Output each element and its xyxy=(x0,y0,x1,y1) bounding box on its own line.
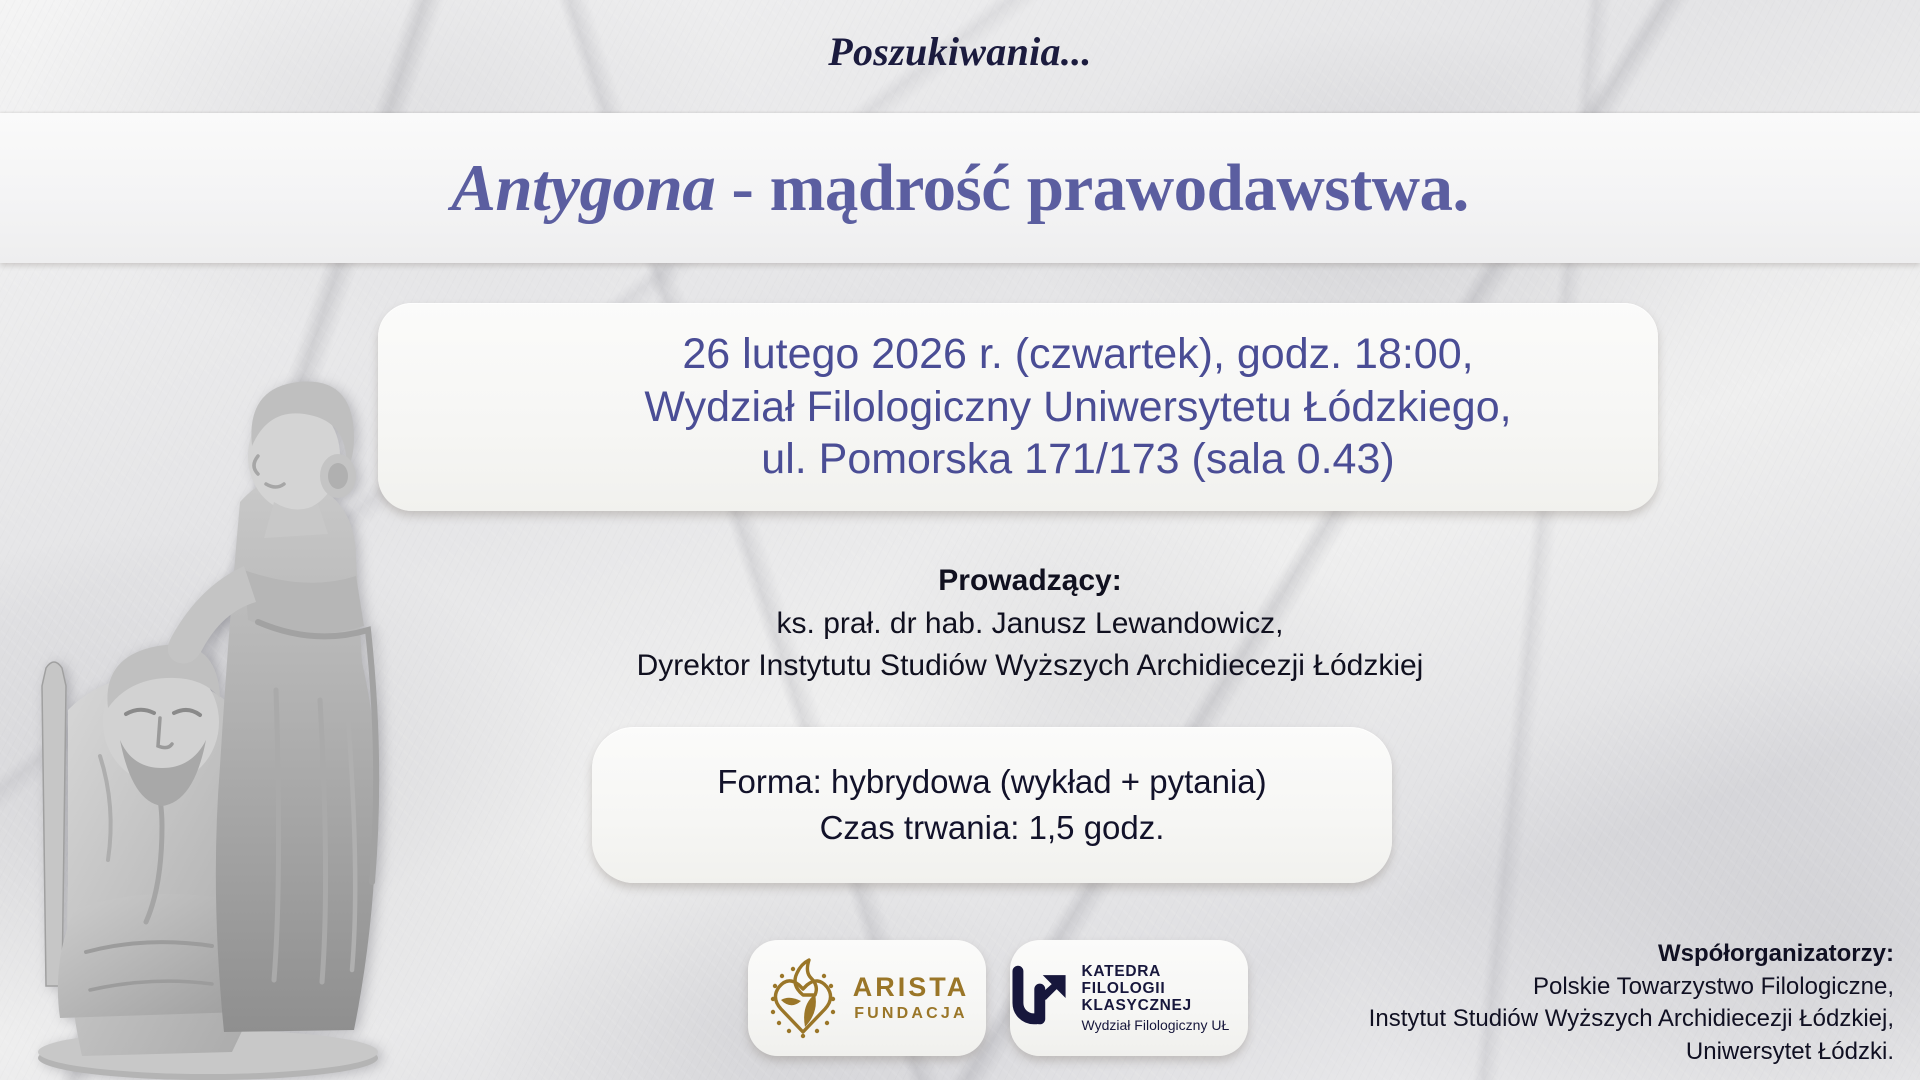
coorganiser-item: Instytut Studiów Wyższych Archidiecezji … xyxy=(1369,1003,1894,1036)
arista-name: ARISTA xyxy=(853,974,970,1001)
katedra-line-1: KATEDRA FILOLOGII xyxy=(1082,963,1248,998)
title-italic-part: Antygona xyxy=(451,151,715,225)
event-venue-line: Wydział Filologiczny Uniwersytetu Łódzki… xyxy=(644,381,1511,434)
katedra-line-3: Wydział Filologiczny UŁ xyxy=(1082,1018,1248,1034)
event-address-line: ul. Pomorska 171/173 (sala 0.43) xyxy=(644,433,1511,486)
format-text: Forma: hybrydowa (wykład + pytania) Czas… xyxy=(717,759,1266,850)
ul-arrow-icon xyxy=(1010,965,1072,1031)
event-details-text: 26 lutego 2026 r. (czwartek), godz. 18:0… xyxy=(524,328,1511,487)
poster-root: Poszukiwania... Antygona - mądrość prawo… xyxy=(0,0,1920,1080)
heart-flame-icon xyxy=(765,955,841,1041)
coorganiser-item: Polskie Towarzystwo Filologiczne, xyxy=(1369,971,1894,1004)
speaker-block: Prowadzący: ks. prał. dr hab. Janusz Lew… xyxy=(380,560,1680,688)
coorganisers-label: Współorganizatorzy: xyxy=(1369,938,1894,971)
katedra-line-2: KLASYCZNEJ xyxy=(1082,997,1248,1014)
format-mode-line: Forma: hybrydowa (wykład + pytania) xyxy=(717,759,1266,805)
antigone-and-oedipus-sculpture xyxy=(8,270,428,1080)
arista-subtitle: FUNDACJA xyxy=(854,1006,968,1022)
coorganisers-block: Współorganizatorzy: Polskie Towarzystwo … xyxy=(1369,938,1894,1069)
format-card: Forma: hybrydowa (wykład + pytania) Czas… xyxy=(592,727,1392,883)
format-duration-line: Czas trwania: 1,5 godz. xyxy=(717,805,1266,851)
speaker-name: ks. prał. dr hab. Janusz Lewandowicz, xyxy=(380,603,1680,646)
event-details-card: 26 lutego 2026 r. (czwartek), godz. 18:0… xyxy=(378,303,1658,511)
speaker-label: Prowadzący: xyxy=(380,560,1680,603)
katedra-wordmark: KATEDRA FILOLOGII KLASYCZNEJ Wydział Fil… xyxy=(1082,963,1248,1034)
page-title: Antygona - mądrość prawodawstwa. xyxy=(451,150,1469,227)
coorganiser-item: Uniwersytet Łódzki. xyxy=(1369,1036,1894,1069)
title-rest-part: - mądrość prawodawstwa. xyxy=(715,151,1469,225)
logo-katedra-filologii-klasycznej[interactable]: KATEDRA FILOLOGII KLASYCZNEJ Wydział Fil… xyxy=(1010,940,1248,1056)
event-datetime-line: 26 lutego 2026 r. (czwartek), godz. 18:0… xyxy=(644,328,1511,381)
poster-eyebrow: Poszukiwania... xyxy=(0,28,1920,75)
speaker-role: Dyrektor Instytutu Studiów Wyższych Arch… xyxy=(380,645,1680,688)
arista-wordmark: ARISTA FUNDACJA xyxy=(853,974,970,1022)
title-band: Antygona - mądrość prawodawstwa. xyxy=(0,113,1920,263)
logo-arista-fundacja[interactable]: ARISTA FUNDACJA xyxy=(748,940,986,1056)
